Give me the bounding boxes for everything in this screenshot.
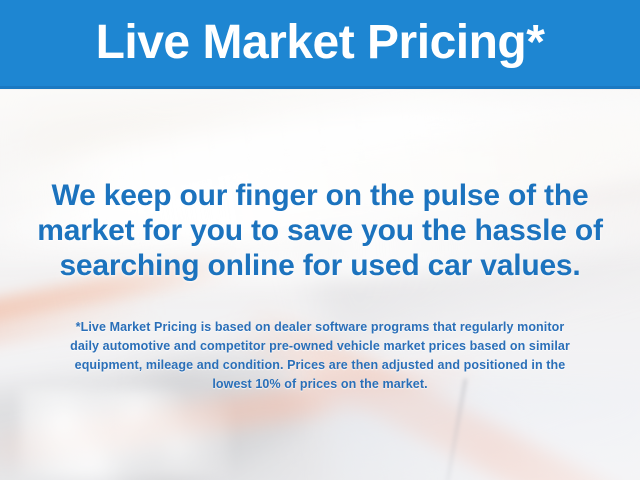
disclaimer-line-1: *Live Market Pricing is based on dealer … xyxy=(22,318,618,337)
headline-line-3: searching online for used car values. xyxy=(20,248,620,283)
disclaimer-line-3: equipment, mileage and condition. Prices… xyxy=(22,356,618,375)
live-market-pricing-banner: Live Market Pricing* We keep our finger … xyxy=(0,0,640,480)
header-banner: Live Market Pricing* xyxy=(0,0,640,89)
disclaimer-line-4: lowest 10% of prices on the market. xyxy=(22,375,618,394)
headline-text: We keep our finger on the pulse of the m… xyxy=(20,178,620,283)
headline-line-2: market for you to save you the hassle of xyxy=(20,213,620,248)
background-white-haze-overlay xyxy=(0,90,640,480)
headline-line-1: We keep our finger on the pulse of the xyxy=(20,178,620,213)
disclaimer-line-2: daily automotive and competitor pre-owne… xyxy=(22,337,618,356)
page-title: Live Market Pricing* xyxy=(96,19,545,71)
disclaimer-text: *Live Market Pricing is based on dealer … xyxy=(22,318,618,394)
